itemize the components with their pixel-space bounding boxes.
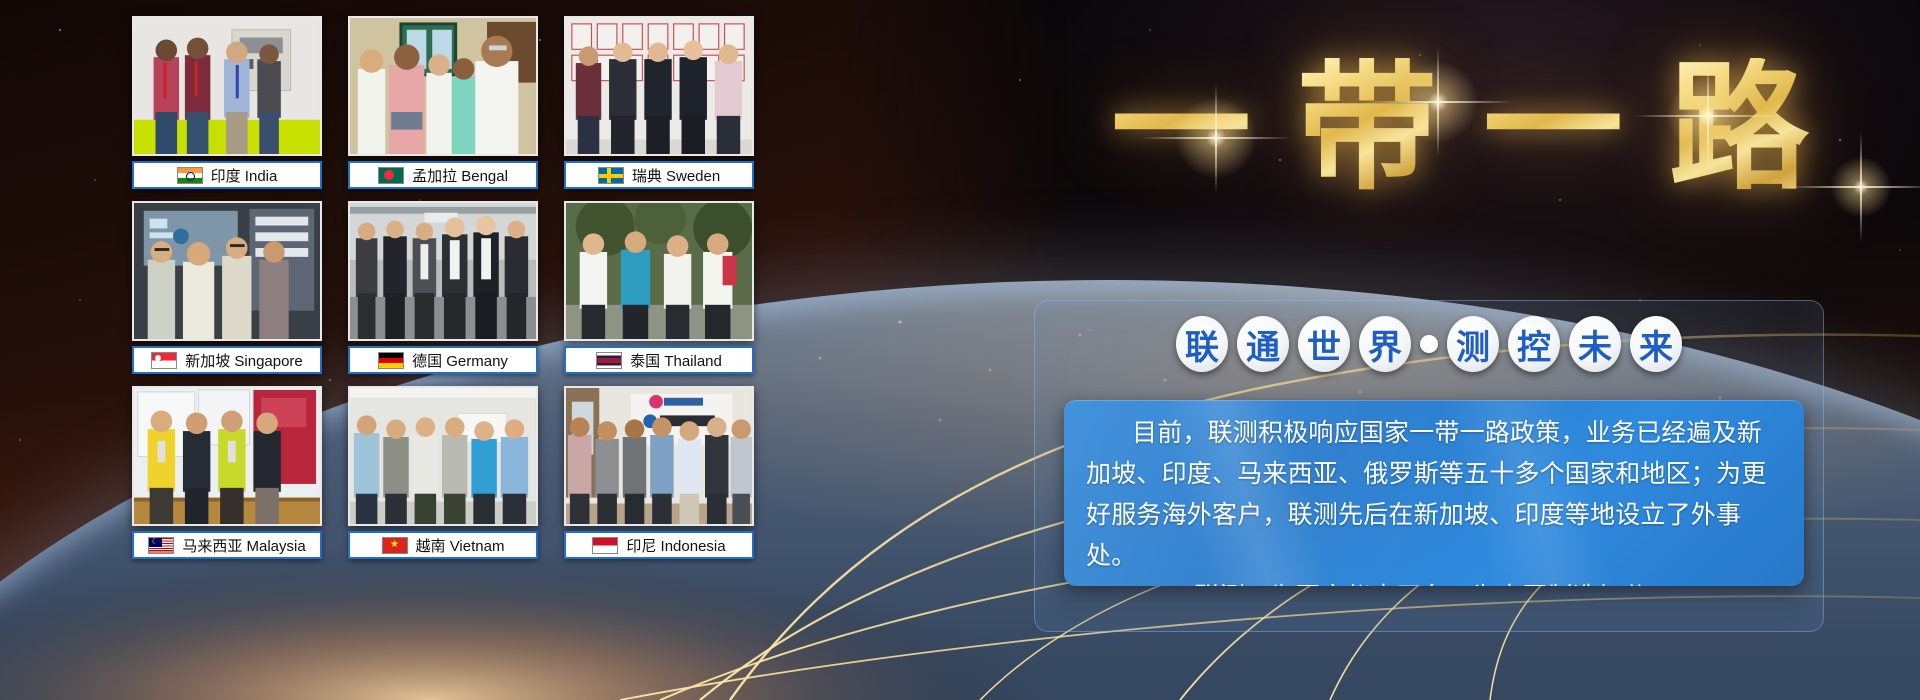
thailand-team-photo[interactable] [564,201,754,341]
india-team-photo[interactable] [132,16,322,156]
country-label-text: 印度 India [211,165,278,186]
country-label-text: 瑞典 Sweden [632,165,720,186]
description-paragraph: 目前，联测积极响应国家一带一路政策，业务已经遍及新加坡、印度、马来西亚、俄罗斯等… [1086,412,1782,576]
company-slogan: 联 通 世 界 测 控 未 来 [1034,312,1824,376]
bengal-flag [378,167,404,184]
singapore-team-photo[interactable] [132,201,322,341]
slogan-bead: 界 [1359,316,1411,372]
india-flag [177,167,203,184]
germany-team-photo[interactable] [348,201,538,341]
country-label[interactable]: 德国 Germany [348,346,538,374]
country-label[interactable]: 瑞典 Sweden [564,161,754,189]
country-label-text: 泰国 Thailand [630,350,722,371]
company-description-box: 目前，联测积极响应国家一带一路政策，业务已经遍及新加坡、印度、马来西亚、俄罗斯等… [1064,400,1804,586]
vietnam-team-photo[interactable] [348,386,538,526]
slogan-bead: 未 [1569,316,1621,372]
description-tagline: 联测，为国产仪表正名，为中国制造加分！ [1086,576,1782,586]
slogan-bead: 来 [1630,316,1682,372]
grid-cell[interactable]: 德国 Germany [348,201,538,381]
slogan-bead: 控 [1508,316,1560,372]
slogan-bead: 通 [1237,316,1289,372]
belt-and-road-banner: 印度 India [0,0,1920,700]
country-label-text: 新加坡 Singapore [185,350,303,371]
slogan-bead: 测 [1447,316,1499,372]
malaysia-flag [148,537,174,554]
grid-cell[interactable]: 马来西亚 Malaysia [132,386,322,566]
country-label[interactable]: 泰国 Thailand [564,346,754,374]
country-label-text: 越南 Vietnam [416,535,505,556]
grid-cell[interactable]: 孟加拉 Bengal [348,16,538,196]
grid-cell[interactable]: 新加坡 Singapore [132,201,322,381]
grid-cell[interactable]: 印度 India [132,16,322,196]
grid-cell[interactable]: 泰国 Thailand [564,201,754,381]
country-label-text: 马来西亚 Malaysia [182,535,305,556]
thailand-flag [596,352,622,369]
slogan-bead: 世 [1298,316,1350,372]
grid-cell[interactable]: 越南 Vietnam [348,386,538,566]
indonesia-team-photo[interactable] [564,386,754,526]
country-label[interactable]: 新加坡 Singapore [132,346,322,374]
sweden-flag [598,167,624,184]
singapore-flag [151,352,177,369]
country-label[interactable]: 印尼 Indonesia [564,531,754,559]
malaysia-team-photo[interactable] [132,386,322,526]
country-label[interactable]: 印度 India [132,161,322,189]
country-photo-grid: 印度 India [132,16,754,586]
country-label[interactable]: 马来西亚 Malaysia [132,531,322,559]
slogan-separator-dot [1420,335,1438,353]
indonesia-flag [592,537,618,554]
grid-cell[interactable]: 瑞典 Sweden [564,16,754,196]
country-label[interactable]: 越南 Vietnam [348,531,538,559]
grid-cell[interactable]: 印尼 Indonesia [564,386,754,566]
country-label-text: 印尼 Indonesia [626,535,725,556]
country-label[interactable]: 孟加拉 Bengal [348,161,538,189]
country-label-text: 德国 Germany [412,350,508,371]
country-label-text: 孟加拉 Bengal [412,165,508,186]
bengal-team-photo[interactable] [348,16,538,156]
slogan-bead: 联 [1176,316,1228,372]
germany-flag [378,352,404,369]
vietnam-flag [382,537,408,554]
sweden-team-photo[interactable] [564,16,754,156]
